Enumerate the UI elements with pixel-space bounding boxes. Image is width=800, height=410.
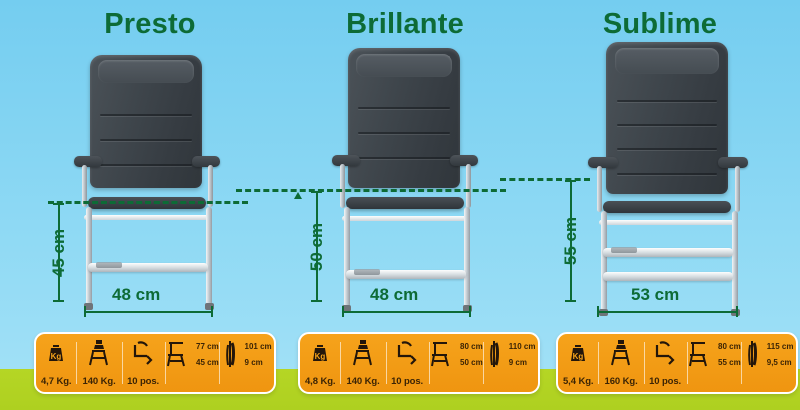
leg-front-right (732, 211, 738, 311)
width-dim-line-presto (84, 311, 212, 313)
spec-positions: 10 pos. (122, 334, 165, 392)
spec-folded-height-value: 110 cm (509, 342, 536, 351)
spec-weight: Kg 4,7 Kg. (36, 334, 76, 392)
armrest-right (718, 157, 748, 168)
armrest-post-right (735, 166, 740, 212)
spec-seat-height-value: 45 cm (196, 358, 219, 367)
armrest-left (332, 155, 360, 166)
spec-max-load: 140 Kg. (76, 334, 121, 392)
backrest (606, 42, 728, 194)
cross-rail-upper (603, 248, 733, 257)
spec-backrest-height-value: 80 cm (718, 342, 741, 351)
seat-support-rail (342, 216, 468, 221)
brand-logo-icon (695, 51, 717, 58)
height-dim-cap-bottom-presto (53, 300, 64, 302)
product-title-sublime: Sublime (570, 8, 750, 41)
armrest-left (74, 156, 102, 167)
seat-height-reference-line-brillante (236, 189, 506, 192)
spec-panel-presto: Kg 4,7 Kg. 140 Kg. 10 pos. 77 cm 45 cm (34, 332, 276, 394)
spec-backrest-height-value: 77 cm (196, 342, 219, 351)
cross-rail (88, 263, 208, 272)
width-dim-cap-right-sublime (736, 306, 738, 317)
spec-weight: Kg 5,4 Kg. (558, 334, 598, 392)
frame-brand-icon (611, 247, 637, 253)
spec-positions: 10 pos. (386, 334, 429, 392)
spec-backrest-height-value: 80 cm (460, 342, 483, 351)
frame-brand-icon (96, 262, 122, 268)
folded-chair-icon (744, 340, 764, 368)
weight-block-icon: Kg (45, 339, 67, 367)
spec-dimensions: 80 cm 50 cm (429, 334, 484, 392)
spec-folded-thickness-value: 9,5 cm (767, 358, 794, 367)
spec-dimensions: 80 cm 55 cm (687, 334, 742, 392)
seat-height-reference-line-presto (48, 201, 248, 204)
spec-folded-thickness-value: 9 cm (245, 358, 272, 367)
svg-text:Kg: Kg (315, 352, 326, 361)
armrest-post-left (597, 166, 602, 212)
leg-front-right (464, 207, 470, 307)
seat (603, 201, 731, 213)
backrest (348, 48, 460, 188)
folded-chair-icon (222, 340, 242, 368)
spec-positions-value: 10 pos. (391, 376, 423, 392)
chair-max-load-icon (608, 339, 634, 367)
width-dim-cap-left-brillante (342, 306, 344, 317)
product-title-presto: Presto (60, 8, 240, 41)
frame-brand-icon (354, 269, 380, 275)
weight-block-icon: Kg (309, 339, 331, 367)
width-dim-cap-left-sublime (597, 306, 599, 317)
armrest-post-left (340, 164, 345, 208)
leg-front-right (206, 207, 212, 305)
svg-text:Kg: Kg (51, 352, 62, 361)
backrest (90, 55, 202, 188)
armrest-right (192, 156, 220, 167)
spec-max-load-value: 160 Kg. (605, 376, 638, 392)
spec-positions-value: 10 pos. (649, 376, 681, 392)
weight-block-icon: Kg (567, 339, 589, 367)
recline-positions-icon (130, 339, 156, 367)
spec-max-load: 160 Kg. (598, 334, 643, 392)
width-label-sublime: 53 cm (631, 285, 679, 305)
width-dim-cap-right-presto (211, 306, 213, 317)
height-dim-cap-top-sublime (565, 180, 576, 182)
brand-logo-icon (170, 63, 192, 70)
spec-weight-value: 4,8 Kg. (305, 376, 335, 392)
spec-max-load-value: 140 Kg. (83, 376, 116, 392)
chair-side-dimensions-icon (165, 340, 193, 368)
height-dim-cap-bottom-brillante (311, 300, 322, 302)
recline-positions-icon (652, 339, 678, 367)
spec-max-load-value: 140 Kg. (347, 376, 380, 392)
cross-rail-lower (603, 272, 733, 281)
spec-weight-value: 4,7 Kg. (41, 376, 71, 392)
seat-support-rail (84, 215, 210, 220)
spec-folded-thickness-value: 9 cm (509, 358, 536, 367)
width-label-brillante: 48 cm (370, 285, 418, 305)
seat-height-reference-line-sublime (500, 178, 590, 181)
spec-max-load: 140 Kg. (340, 334, 385, 392)
width-dim-cap-right-brillante (469, 306, 471, 317)
width-dim-line-sublime (597, 311, 737, 313)
svg-text:Kg: Kg (573, 352, 584, 361)
leg-front-left (601, 211, 607, 311)
spec-folded: 115 cm 9,5 cm (741, 334, 796, 392)
height-step-arrow-brillante (294, 192, 302, 199)
height-dim-cap-bottom-sublime (565, 300, 576, 302)
seat (346, 197, 464, 209)
recline-positions-icon (394, 339, 420, 367)
spec-positions: 10 pos. (644, 334, 687, 392)
infographic-canvas: Presto Brillante Sublime 45 cm 48 cm (0, 0, 800, 410)
height-dim-cap-top-brillante (311, 191, 322, 193)
armrest-post-right (466, 164, 471, 208)
leg-front-left (86, 207, 92, 305)
spec-seat-height-value: 55 cm (718, 358, 741, 367)
chair-max-load-icon (350, 339, 376, 367)
chair-side-dimensions-icon (687, 340, 715, 368)
chair-max-load-icon (86, 339, 112, 367)
armrest-left (588, 157, 618, 168)
seat-support-rail (599, 220, 735, 225)
seat-height-label-brillante: 50 cm (307, 207, 327, 287)
armrest-right (450, 155, 478, 166)
seat-height-label-sublime: 55 cm (561, 201, 581, 281)
spec-weight: Kg 4,8 Kg. (300, 334, 340, 392)
width-dim-line-brillante (342, 311, 470, 313)
seat-height-label-presto: 45 cm (49, 213, 69, 293)
spec-seat-height-value: 50 cm (460, 358, 483, 367)
folded-chair-icon (486, 340, 506, 368)
spec-weight-value: 5,4 Kg. (563, 376, 593, 392)
brand-logo-icon (428, 56, 450, 63)
spec-panel-brillante: Kg 4,8 Kg. 140 Kg. 10 pos. 80 cm 50 cm (298, 332, 540, 394)
leg-front-left (344, 207, 350, 307)
spec-folded: 110 cm 9 cm (483, 334, 538, 392)
chair-side-dimensions-icon (429, 340, 457, 368)
spec-folded-height-value: 115 cm (767, 342, 794, 351)
width-dim-cap-left-presto (84, 306, 86, 317)
width-label-presto: 48 cm (112, 285, 160, 305)
spec-folded: 101 cm 9 cm (219, 334, 274, 392)
cross-rail (346, 270, 466, 279)
height-dim-cap-top-presto (53, 203, 64, 205)
spec-positions-value: 10 pos. (127, 376, 159, 392)
spec-dimensions: 77 cm 45 cm (165, 334, 220, 392)
spec-panel-sublime: Kg 5,4 Kg. 160 Kg. 10 pos. 80 cm 55 cm (556, 332, 798, 394)
spec-folded-height-value: 101 cm (245, 342, 272, 351)
product-title-brillante: Brillante (315, 8, 495, 41)
